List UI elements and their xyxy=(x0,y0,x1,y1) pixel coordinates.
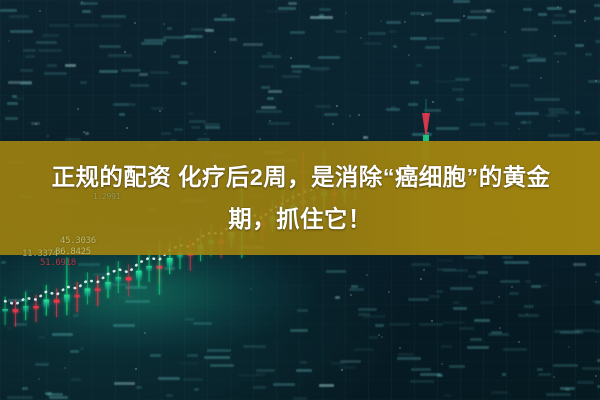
headline-line-2: 期，抓住它！ xyxy=(228,199,371,239)
headline-line-1: 正规的配资 化疗后2周，是消除“癌细胞”的黄金 xyxy=(50,157,551,197)
banner-image: 正规的配资 化疗后2周，是消除“癌细胞”的黄金 期，抓住它！ 45.303611… xyxy=(0,0,600,400)
headline-text: 正规的配资 化疗后2周，是消除“癌细胞”的黄金 期，抓住它！ xyxy=(0,141,600,255)
